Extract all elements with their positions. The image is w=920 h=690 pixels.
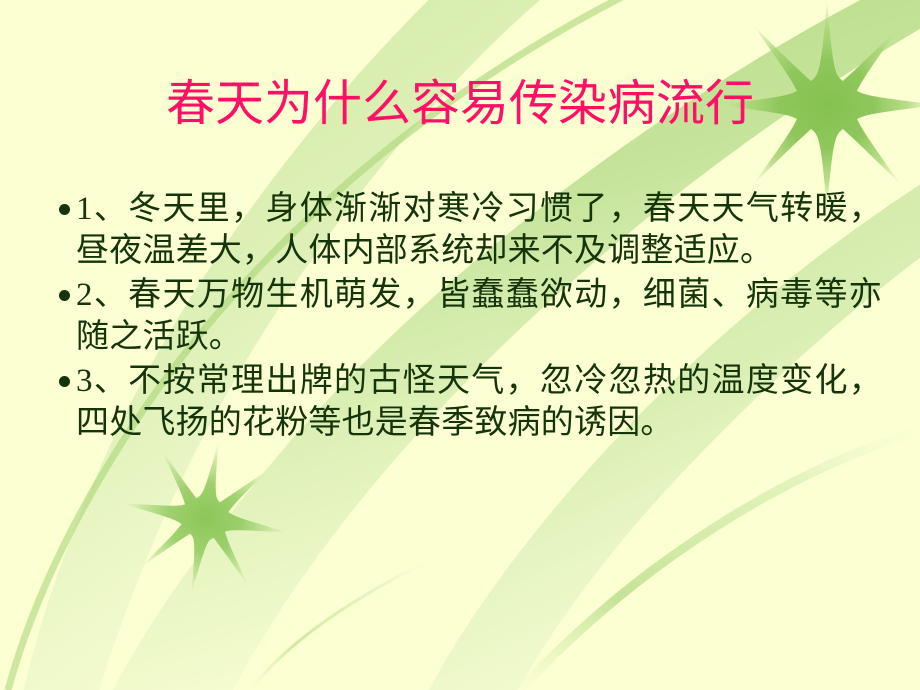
list-item-text: 2、春天万物生机萌发，皆蠢蠢欲动，细菌、病毒等亦随之活跃。: [76, 274, 882, 358]
bullet-dot-icon: [52, 188, 76, 215]
list-item: 2、春天万物生机萌发，皆蠢蠢欲动，细菌、病毒等亦随之活跃。: [52, 274, 882, 358]
list-item: 1、冬天里，身体渐渐对寒冷习惯了，春天天气转暖，昼夜温差大，人体内部系统却来不及…: [52, 188, 882, 272]
list-item-text: 1、冬天里，身体渐渐对寒冷习惯了，春天天气转暖，昼夜温差大，人体内部系统却来不及…: [76, 188, 882, 272]
page-title: 春天为什么容易传染病流行: [40, 78, 880, 129]
bullet-list: 1、冬天里，身体渐渐对寒冷习惯了，春天天气转暖，昼夜温差大，人体内部系统却来不及…: [52, 188, 882, 446]
bullet-dot-icon: [52, 274, 76, 301]
title-block: 春天为什么容易传染病流行: [40, 78, 880, 129]
list-item-text: 3、不按常理出牌的古怪天气，忽冷忽热的温度变化，四处飞扬的花粉等也是春季致病的诱…: [76, 360, 882, 444]
slide-content: 春天为什么容易传染病流行 1、冬天里，身体渐渐对寒冷习惯了，春天天气转暖，昼夜温…: [0, 0, 920, 690]
presentation-slide: 春天为什么容易传染病流行 1、冬天里，身体渐渐对寒冷习惯了，春天天气转暖，昼夜温…: [0, 0, 920, 690]
bullet-dot-icon: [52, 360, 76, 387]
list-item: 3、不按常理出牌的古怪天气，忽冷忽热的温度变化，四处飞扬的花粉等也是春季致病的诱…: [52, 360, 882, 444]
